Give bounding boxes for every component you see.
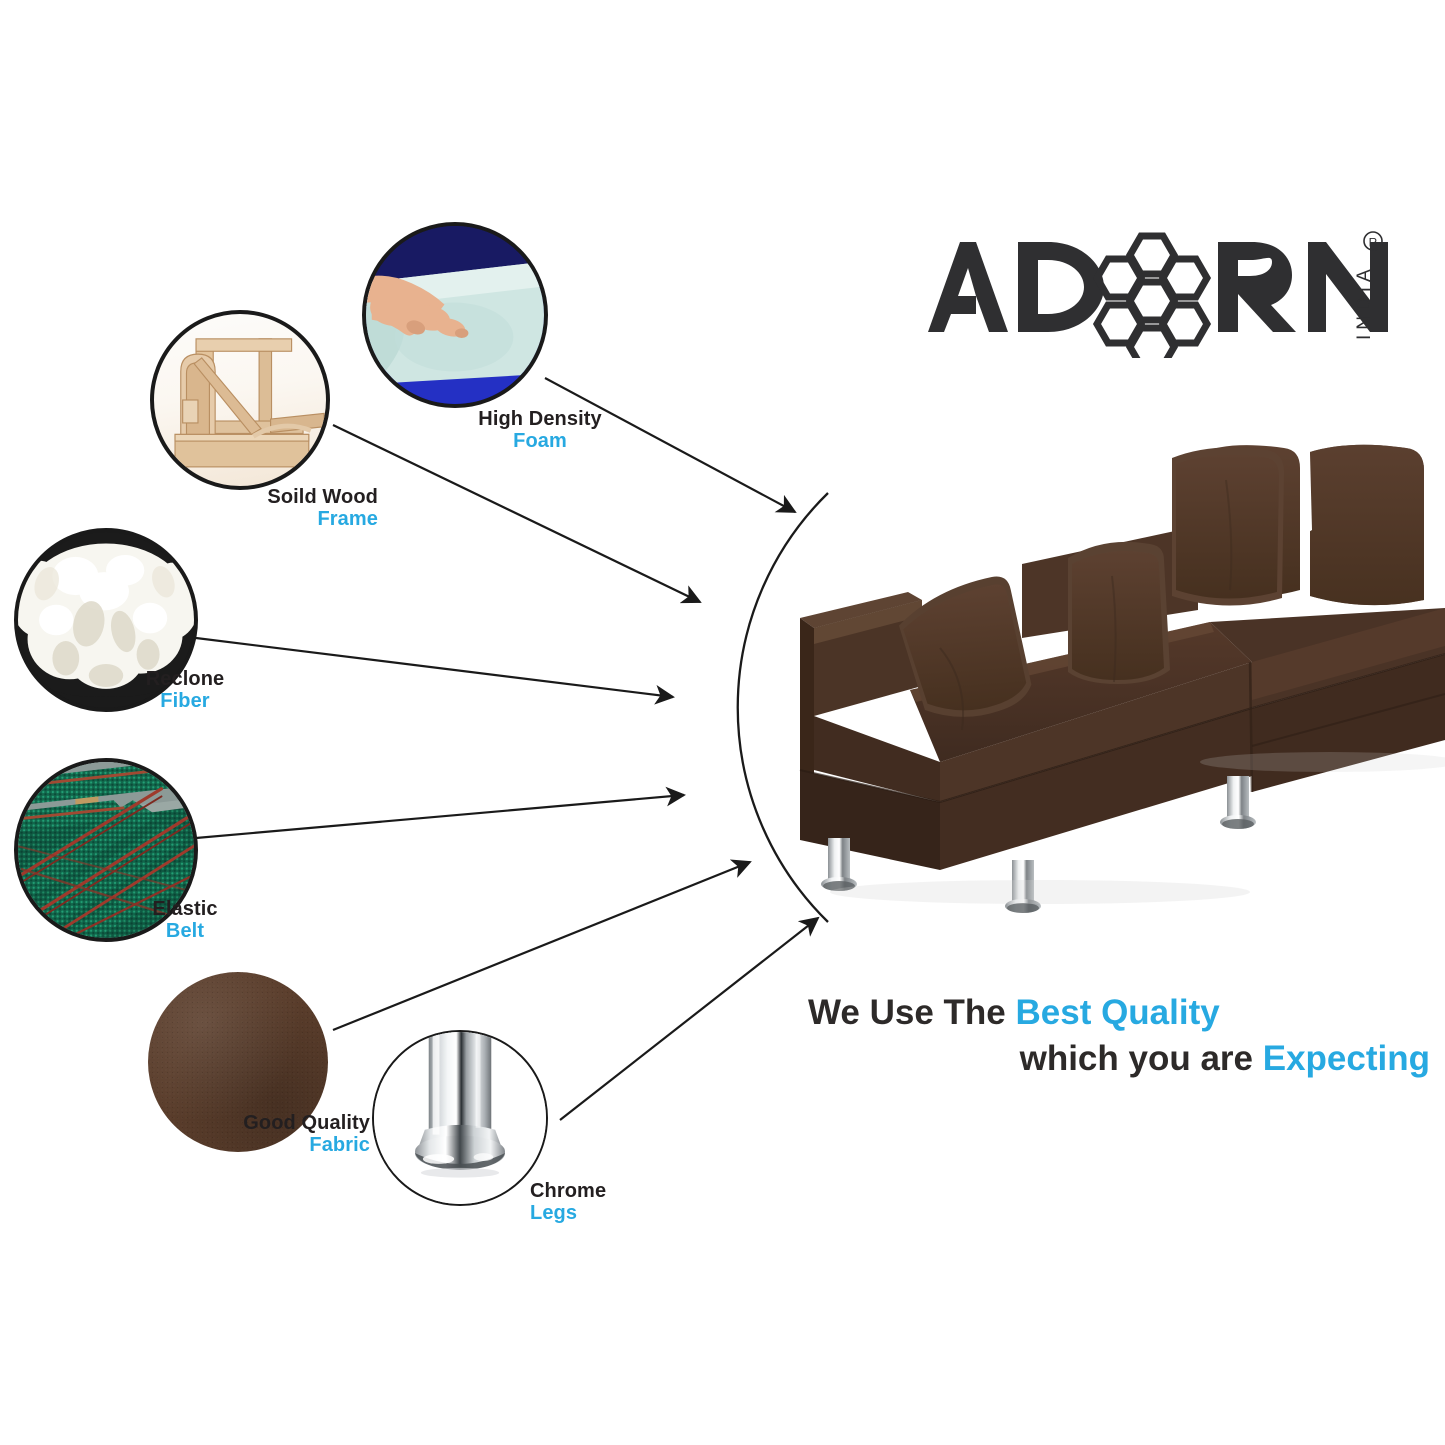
label-line-2: Fiber	[105, 690, 265, 712]
label-line-2: Fabric	[120, 1134, 370, 1156]
feature-image-chrome-legs	[372, 1030, 548, 1206]
product-image-sectional-sofa	[790, 440, 1445, 920]
label-line-2: Foam	[430, 430, 650, 452]
label-line-1: Good Quality	[120, 1112, 370, 1134]
label-line-1: Reclone	[105, 668, 265, 690]
label-chrome-legs: Chrome Legs	[530, 1180, 750, 1225]
label-line-1: Chrome	[530, 1180, 750, 1202]
label-solid-wood-frame: Soild Wood Frame	[128, 486, 378, 531]
label-line-2: Belt	[105, 920, 265, 942]
tagline-row1-plain: We Use The	[808, 993, 1015, 1032]
label-reclone-fiber: Reclone Fiber	[105, 668, 265, 713]
tagline-row-1: We Use The Best Quality	[808, 990, 1430, 1036]
tagline-row2-highlight: Expecting	[1263, 1039, 1430, 1078]
arrow-chrome-legs	[560, 918, 818, 1120]
arrow-good-quality-fabric	[333, 862, 750, 1030]
label-line-1: Elastic	[105, 898, 265, 920]
tagline-row1-highlight: Best Quality	[1015, 993, 1219, 1032]
label-line-2: Frame	[128, 508, 378, 530]
feature-image-high-density-foam	[362, 222, 548, 408]
arrow-reclone-fiber	[196, 638, 673, 697]
label-good-quality-fabric: Good Quality Fabric	[120, 1112, 370, 1157]
tagline: We Use The Best Quality which you are Ex…	[808, 990, 1430, 1081]
arrow-elastic-belt	[196, 795, 684, 838]
label-line-1: Soild Wood	[128, 486, 378, 508]
label-high-density-foam: High Density Foam	[430, 408, 650, 453]
label-line-2: Legs	[530, 1202, 750, 1224]
label-line-1: High Density	[430, 408, 650, 430]
label-elastic-belt: Elastic Belt	[105, 898, 265, 943]
tagline-row2-plain: which you are	[1020, 1039, 1263, 1078]
tagline-row-2: which you are Expecting	[808, 1036, 1430, 1082]
feature-image-solid-wood-frame	[150, 310, 330, 490]
infographic-canvas: INDIA R	[0, 0, 1445, 1445]
